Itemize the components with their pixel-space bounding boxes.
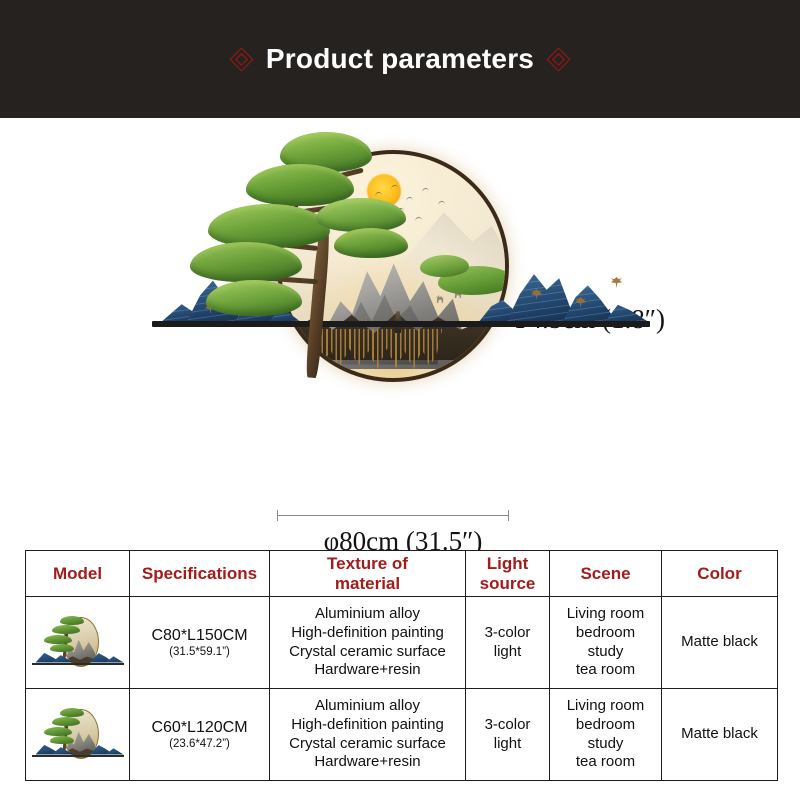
column-header-color: Color: [662, 551, 778, 597]
pine-canopy: [190, 242, 302, 282]
texture-line: Aluminium alloy: [273, 697, 462, 716]
scene-line: study: [553, 643, 658, 662]
column-header-texture-line1: Texture of: [327, 554, 408, 573]
disc-diameter-dimension-line: [277, 510, 509, 521]
diamond-ornament-icon-right: [547, 47, 571, 71]
specification-table: Model Specifications Texture of material…: [25, 550, 778, 781]
cell-color: Matte black: [662, 597, 778, 689]
product-illustration: T4.5cm (1.8″) φ80cm (31.5″) φ150cm (59.1…: [0, 118, 800, 518]
diamond-ornament-icon-left: [229, 47, 253, 71]
light-line: light: [469, 643, 546, 662]
pine-canopy: [334, 228, 408, 258]
spec-sub: (23.6*47.2”): [133, 737, 266, 751]
scene-line: Living room: [553, 605, 658, 624]
pine-tree: [184, 130, 434, 385]
cell-scene: Living room bedroom study tea room: [550, 597, 662, 689]
scene-line: tea room: [553, 661, 658, 680]
texture-line: Crystal ceramic surface: [273, 643, 462, 662]
cell-specifications: C80*L150CM (31.5*59.1”): [130, 597, 270, 689]
spec-main: C80*L150CM: [133, 626, 266, 646]
specification-table-container: Model Specifications Texture of material…: [25, 550, 777, 781]
scene-line: bedroom: [553, 624, 658, 643]
cell-texture: Aluminium alloy High-definition painting…: [270, 597, 466, 689]
bird-icon: [438, 201, 445, 206]
table-row: C60*L120CM (23.6*47.2”) Aluminium alloy …: [26, 689, 778, 781]
pine-canopy: [206, 280, 302, 316]
page-banner: Product parameters: [0, 0, 800, 118]
scene-line: study: [553, 735, 658, 754]
cell-model-thumbnail: [26, 689, 130, 781]
product-thumbnail-icon: [32, 612, 124, 674]
column-header-light-source: Light source: [466, 551, 550, 597]
page-title: Product parameters: [266, 43, 534, 75]
cell-color: Matte black: [662, 689, 778, 781]
texture-line: High-definition painting: [273, 716, 462, 735]
texture-line: High-definition painting: [273, 624, 462, 643]
light-line: 3-color: [469, 624, 546, 643]
scene-line: tea room: [553, 753, 658, 772]
spec-main: C60*L120CM: [133, 718, 266, 738]
table-row: C80*L150CM (31.5*59.1”) Aluminium alloy …: [26, 597, 778, 689]
product-thumbnail-icon: [32, 704, 124, 766]
light-line: light: [469, 735, 546, 754]
texture-line: Hardware+resin: [273, 661, 462, 680]
cell-specifications: C60*L120CM (23.6*47.2”): [130, 689, 270, 781]
texture-line: Hardware+resin: [273, 753, 462, 772]
spec-sub: (31.5*59.1”): [133, 645, 266, 659]
column-header-light-line2: source: [480, 574, 536, 593]
light-line: 3-color: [469, 716, 546, 735]
column-header-light-line1: Light: [487, 554, 529, 573]
cell-light-source: 3-color light: [466, 597, 550, 689]
column-header-texture-line2: material: [335, 574, 400, 593]
cell-model-thumbnail: [26, 597, 130, 689]
column-header-scene: Scene: [550, 551, 662, 597]
scene-line: Living room: [553, 697, 658, 716]
gold-tree-icon: [610, 277, 623, 288]
cell-scene: Living room bedroom study tea room: [550, 689, 662, 781]
pine-canopy: [316, 198, 406, 232]
column-header-texture: Texture of material: [270, 551, 466, 597]
cell-texture: Aluminium alloy High-definition painting…: [270, 689, 466, 781]
texture-line: Aluminium alloy: [273, 605, 462, 624]
blue-mountain-range-right: [478, 263, 650, 323]
table-header-row: Model Specifications Texture of material…: [26, 551, 778, 597]
scene-line: bedroom: [553, 716, 658, 735]
cell-light-source: 3-color light: [466, 689, 550, 781]
texture-line: Crystal ceramic surface: [273, 735, 462, 754]
product-parameters-page: Product parameters: [0, 0, 800, 800]
column-header-model: Model: [26, 551, 130, 597]
column-header-specifications: Specifications: [130, 551, 270, 597]
